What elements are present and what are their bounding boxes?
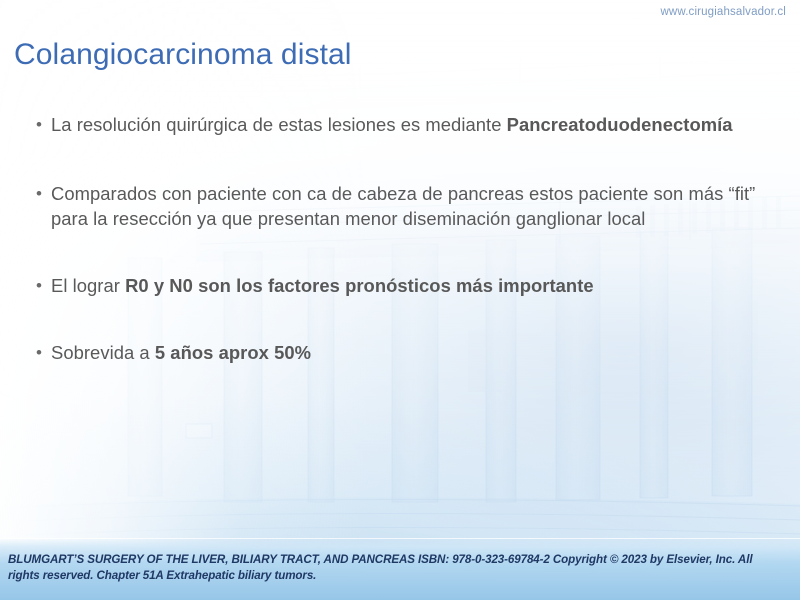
presentation-slide: www.cirugiahsalvador.cl Colangiocarcinom…: [0, 0, 800, 600]
bullet-marker-icon: •: [36, 181, 42, 206]
bullet-1-segment-1: La resolución quirúrgica de estas lesion…: [51, 114, 507, 135]
bullet-marker-icon: •: [36, 273, 42, 298]
bullet-item-1: • La resolución quirúrgica de estas lesi…: [32, 112, 768, 137]
bullet-3-segment-2: R0 y N0 son los factores pronósticos más…: [125, 275, 594, 296]
footer-divider: [0, 538, 800, 539]
bullet-4-segment-1: Sobrevida a: [51, 342, 155, 363]
site-url-label: www.cirugiahsalvador.cl: [660, 6, 786, 18]
bullet-marker-icon: •: [36, 340, 42, 365]
slide-title: Colangiocarcinoma distal: [14, 38, 352, 71]
bullet-3-segment-1: El lograr: [51, 275, 125, 296]
bullet-item-2: • Comparados con paciente con ca de cabe…: [32, 181, 768, 231]
bullet-item-3: • El lograr R0 y N0 son los factores pro…: [32, 273, 768, 298]
bullet-text-1: La resolución quirúrgica de estas lesion…: [51, 112, 768, 137]
bullet-marker-icon: •: [36, 112, 42, 137]
bullet-spacer-1: [32, 137, 768, 181]
bullet-spacer-3: [32, 298, 768, 340]
bullet-text-2: Comparados con paciente con ca de cabeza…: [51, 181, 768, 231]
slide-body: • La resolución quirúrgica de estas lesi…: [32, 112, 768, 365]
bullet-spacer-2: [32, 231, 768, 273]
bullet-item-4: • Sobrevida a 5 años aprox 50%: [32, 340, 768, 365]
source-citation: BLUMGART’S SURGERY OF THE LIVER, BILIARY…: [8, 552, 786, 584]
bullet-1-segment-2: Pancreatoduodenectomía: [507, 114, 733, 135]
bullet-4-segment-2: 5 años aprox 50%: [155, 342, 311, 363]
bullet-text-3: El lograr R0 y N0 son los factores pronó…: [51, 273, 768, 298]
bullet-text-4: Sobrevida a 5 años aprox 50%: [51, 340, 768, 365]
